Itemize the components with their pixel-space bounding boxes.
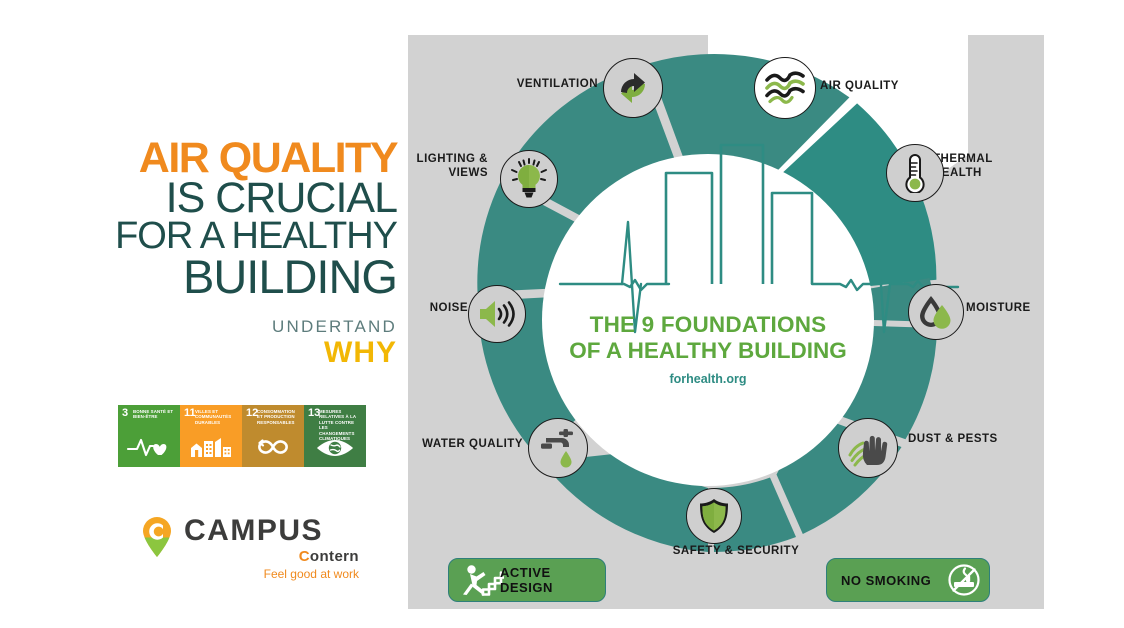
stair-climber-icon [458, 564, 504, 596]
logo-wordmark: CAMPUS [184, 514, 323, 548]
sdg-goal-12-title: CONSOMMATION ET PRODUCTION RESPONSABLES [257, 409, 302, 425]
subtitle: UNDERTAND WHY [112, 318, 397, 368]
headline-line-2: IS CRUCIAL [112, 178, 397, 218]
label-thermal-health: THERMAL HEALTH [933, 152, 1023, 181]
sdg-goal-3: 3 BONNE SANTÉ ET BIEN-ÊTRE [118, 405, 180, 467]
subtitle-big: WHY [112, 337, 397, 369]
left-text-panel: AIR QUALITY IS CRUCIAL FOR A HEALTHY BUI… [0, 0, 408, 628]
wheel-center-title-2: OF A HEALTHY BUILDING [569, 338, 847, 363]
label-air-quality: AIR QUALITY [820, 79, 930, 93]
logo-tagline: Feel good at work [184, 567, 359, 581]
sdg-goal-13-title: MESURES RELATIVES À LA LUTTE CONTRE LES … [319, 409, 364, 441]
label-lighting-views: LIGHTING & VIEWS [408, 152, 488, 181]
thermometer-icon[interactable] [886, 144, 944, 202]
active-design-label: ACTIVE DESIGN [500, 565, 605, 595]
sdg-goals-row: 3 BONNE SANTÉ ET BIEN-ÊTRE 11 VILLES ET … [118, 405, 366, 467]
logo-location-rest: ontern [310, 548, 359, 565]
no-smoking-icon [947, 563, 981, 597]
recycle-arrows-icon[interactable] [603, 58, 663, 118]
label-noise: NOISE [408, 301, 468, 315]
label-ventilation: VENTILATION [508, 77, 598, 91]
sdg-goal-11-number: 11 [184, 408, 196, 419]
poster-canvas: AIR QUALITY IS CRUCIAL FOR A HEALTHY BUI… [0, 0, 1124, 628]
subtitle-small: UNDERTAND [112, 318, 397, 337]
wiping-hand-icon[interactable] [838, 418, 898, 478]
label-dust-pests: DUST & PESTS [908, 432, 1028, 446]
wheel-center-url: forhealth.org [669, 372, 746, 386]
sdg-goal-3-number: 3 [122, 408, 128, 419]
sdg-goal-13: 13 MESURES RELATIVES À LA LUTTE CONTRE L… [304, 405, 366, 467]
shield-icon[interactable] [686, 488, 742, 544]
active-design-badge[interactable]: ACTIVE DESIGN [448, 558, 606, 602]
headline-line-1: AIR QUALITY [112, 138, 397, 178]
headline-line-4: BUILDING [112, 255, 397, 299]
water-droplet-icon[interactable] [908, 284, 964, 340]
map-pin-icon [140, 516, 174, 558]
eye-globe-icon [304, 438, 366, 463]
city-buildings-icon [180, 436, 242, 463]
label-water-quality: WATER QUALITY [413, 437, 523, 451]
label-moisture: MOISTURE [966, 301, 1056, 315]
logo-location-initial: C [299, 548, 310, 565]
no-smoking-badge[interactable]: NO SMOKING [826, 558, 990, 602]
faucet-drop-icon[interactable] [528, 418, 588, 478]
label-safety-security: SAFETY & SECURITY [648, 544, 824, 558]
no-smoking-label: NO SMOKING [841, 573, 931, 588]
infinity-icon [242, 436, 304, 463]
sdg-goal-11: 11 VILLES ET COMMUNAUTÉS DURABLES [180, 405, 242, 467]
logo-location: Contern [184, 548, 359, 565]
lightbulb-icon[interactable] [500, 150, 558, 208]
heartbeat-icon [118, 436, 180, 463]
wheel-center-title-1: THE 9 FOUNDATIONS [590, 312, 827, 337]
sdg-goal-12: 12 CONSOMMATION ET PRODUCTION RESPONSABL… [242, 405, 304, 467]
sdg-goal-11-title: VILLES ET COMMUNAUTÉS DURABLES [195, 409, 240, 425]
page-title: AIR QUALITY IS CRUCIAL FOR A HEALTHY BUI… [112, 138, 397, 299]
speaker-icon[interactable] [468, 285, 526, 343]
sdg-goal-3-title: BONNE SANTÉ ET BIEN-ÊTRE [133, 409, 178, 420]
campus-contern-logo: CAMPUS Contern Feel good at work [140, 512, 355, 584]
air-waves-icon[interactable] [754, 57, 816, 119]
